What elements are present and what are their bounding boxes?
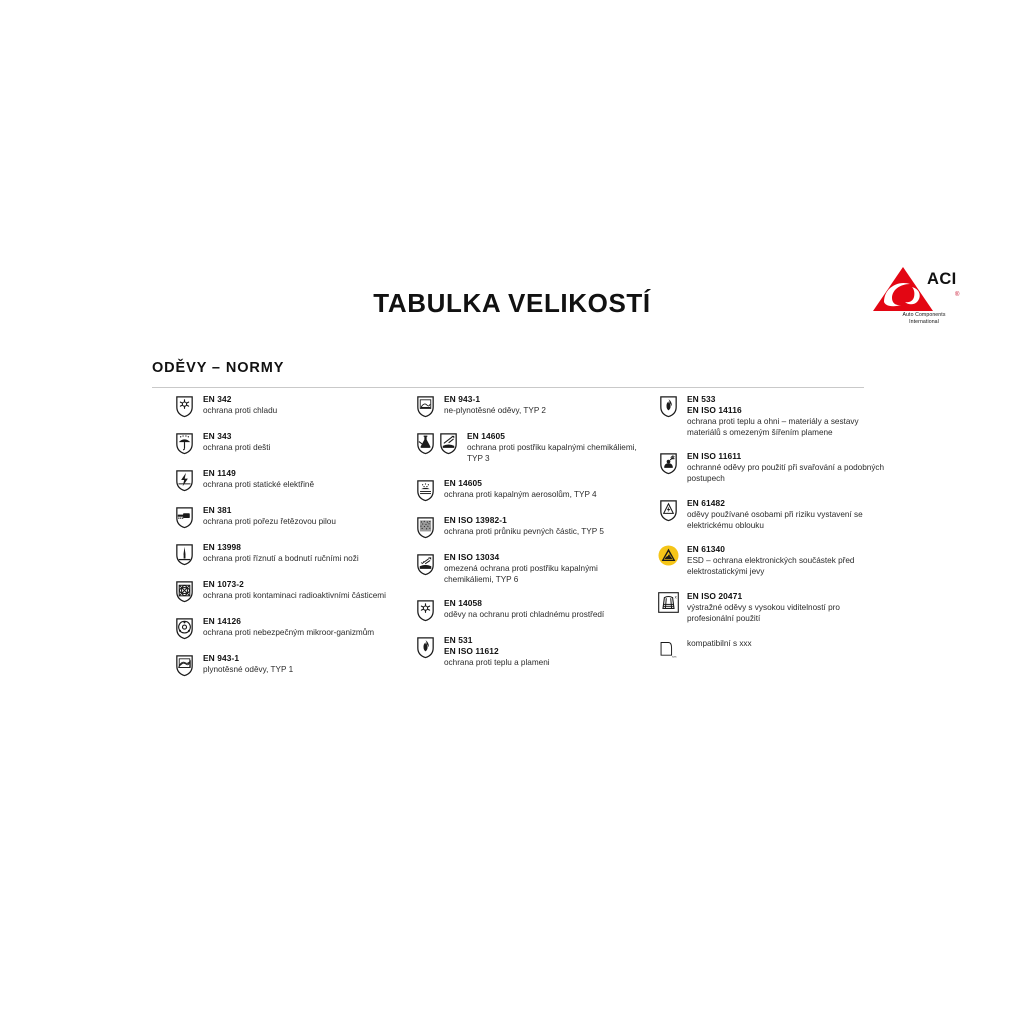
- shield-gastight-suit-icon: [174, 654, 195, 677]
- standard-icon-group: [174, 431, 195, 455]
- standard-text: EN 1073-2ochrana proti kontaminaci radio…: [203, 579, 386, 601]
- standard-text: EN ISO 13034omezená ochrana proti postři…: [444, 552, 640, 586]
- standard-icon-group: [415, 635, 436, 659]
- shield-cool-environment-icon: [415, 599, 436, 622]
- standards-column-3: EN 533EN ISO 14116ochrana proti teplu a …: [658, 394, 888, 674]
- shield-static-electricity-icon: [174, 469, 195, 492]
- standard-code: EN 343: [203, 431, 270, 442]
- standard-text: EN 1149ochrana proti statické elektřině: [203, 468, 314, 490]
- standard-code: EN ISO 13982-1: [444, 515, 604, 526]
- standard-text: EN 14605ochrana proti kapalným aerosolům…: [444, 478, 597, 500]
- standard-item: EN 13998ochrana proti říznutí a bodnutí …: [174, 542, 389, 566]
- standard-code: EN 1073-2: [203, 579, 386, 590]
- standard-code: EN ISO 11612: [444, 646, 550, 657]
- shield-cold-snowflake-icon: [174, 395, 195, 418]
- high-visibility-vest-icon: x: [658, 592, 679, 613]
- standard-text: EN ISO 13982-1ochrana proti průniku pevn…: [444, 515, 604, 537]
- standard-text: EN 531EN ISO 11612ochrana proti teplu a …: [444, 635, 550, 668]
- standard-text: EN 533EN ISO 14116ochrana proti teplu a …: [687, 394, 888, 438]
- standard-item: EN ISO 13982-1ochrana proti průniku pevn…: [415, 515, 640, 539]
- standard-description: omezená ochrana proti postřiku kapalnými…: [444, 563, 640, 585]
- standard-code: EN 61340: [687, 544, 888, 555]
- shield-welding-icon: [658, 452, 679, 475]
- shield-solid-particles-icon: [415, 516, 436, 539]
- standard-icon-group: [415, 515, 436, 539]
- standard-description: ochrana proti statické elektřině: [203, 479, 314, 490]
- standard-item: xxxkompatibilní s xxx: [658, 637, 888, 661]
- standard-icon-group: [174, 579, 195, 603]
- standard-code: EN 943-1: [203, 653, 293, 664]
- section-divider: [152, 387, 864, 388]
- shield-flame-heat-icon: [415, 636, 436, 659]
- shield-electric-arc-icon: [658, 499, 679, 522]
- standard-text: EN 61482oděvy používané osobami při rizi…: [687, 498, 888, 532]
- standard-icon-group: [174, 616, 195, 640]
- standard-text: EN 343ochrana proti dešti: [203, 431, 270, 453]
- standard-item: EN 1149ochrana proti statické elektřině: [174, 468, 389, 492]
- standard-description: ochrana proti kapalným aerosolům, TYP 4: [444, 489, 597, 500]
- standard-icon-group: [658, 451, 679, 475]
- standard-icon-group: [174, 653, 195, 677]
- standard-description: ochrana proti říznutí a bodnutí ručními …: [203, 553, 359, 564]
- standard-description: ochrana proti nebezpečným mikroor-ganizm…: [203, 627, 374, 638]
- standard-text: EN 61340ESD – ochrana elektronických sou…: [687, 544, 888, 578]
- standards-column-2: EN 943-1ne-plynotěsné oděvy, TYP 2EN 146…: [415, 394, 640, 681]
- standard-item: EN 943-1ne-plynotěsné oděvy, TYP 2: [415, 394, 640, 418]
- shield-liquid-jet-icon: [438, 432, 459, 455]
- standard-code: EN 1149: [203, 468, 314, 479]
- standard-code: EN 14126: [203, 616, 374, 627]
- shield-biohazard-icon: [174, 617, 195, 640]
- standard-item: EN 14058oděvy na ochranu proti chladnému…: [415, 598, 640, 622]
- standard-icon-group: [415, 552, 436, 576]
- standard-description: ochrana proti průniku pevných částic, TY…: [444, 526, 604, 537]
- standard-code: EN ISO 14116: [687, 405, 888, 416]
- standard-item: EN 61482oděvy používané osobami při rizi…: [658, 498, 888, 532]
- standard-item: EN 342ochrana proti chladu: [174, 394, 389, 418]
- standard-icon-group: xxx: [658, 637, 679, 661]
- standard-item: EN 14126ochrana proti nebezpečným mikroo…: [174, 616, 389, 640]
- standard-description: ESD – ochrana elektronických součástek p…: [687, 555, 888, 577]
- logo-tagline-line-2: International: [909, 319, 939, 325]
- standard-description: ochrana proti teplu a plameni: [444, 657, 550, 668]
- standard-icon-group: [658, 544, 679, 566]
- standard-code: EN 14605: [467, 431, 640, 442]
- standard-description: oděvy na ochranu proti chladnému prostře…: [444, 609, 604, 620]
- standard-text: kompatibilní s xxx: [687, 637, 752, 649]
- svg-text:xxx: xxx: [672, 654, 677, 658]
- standard-code: EN 13998: [203, 542, 359, 553]
- standard-icon-group: [415, 394, 436, 418]
- standard-item: EN ISO 11611ochranné oděvy pro použití p…: [658, 451, 888, 485]
- standard-text: EN 14126ochrana proti nebezpečným mikroo…: [203, 616, 374, 638]
- standard-text: EN 381ochrana proti pořezu řetězovou pil…: [203, 505, 336, 527]
- standard-text: EN 342ochrana proti chladu: [203, 394, 277, 416]
- standard-description: oděvy používané osobami při riziku vysta…: [687, 509, 888, 531]
- standard-item: EN 14605ochrana proti kapalným aerosolům…: [415, 478, 640, 502]
- standard-code: EN 943-1: [444, 394, 546, 405]
- standard-item: EN 381ochrana proti pořezu řetězovou pil…: [174, 505, 389, 529]
- standard-code: EN ISO 20471: [687, 591, 888, 602]
- standard-text: EN 13998ochrana proti říznutí a bodnutí …: [203, 542, 359, 564]
- standard-icon-group: [415, 478, 436, 502]
- standard-icon-group: [658, 394, 679, 418]
- standard-description: ochrana proti dešti: [203, 442, 270, 453]
- shield-chainsaw-icon: [174, 506, 195, 529]
- esd-warning-triangle-icon: [658, 545, 679, 566]
- standard-item: EN 531EN ISO 11612ochrana proti teplu a …: [415, 635, 640, 668]
- standard-text: EN 14058oděvy na ochranu proti chladnému…: [444, 598, 604, 620]
- shield-limited-flame-spread-icon: [658, 395, 679, 418]
- standard-icon-group: [415, 431, 459, 455]
- standard-description: ne-plynotěsné oděvy, TYP 2: [444, 405, 546, 416]
- standard-item: EN 943-1plynotěsné oděvy, TYP 1: [174, 653, 389, 677]
- standard-code: EN ISO 11611: [687, 451, 888, 462]
- section-header: ODĚVY – NORMY: [152, 360, 284, 376]
- standard-icon-group: [415, 598, 436, 622]
- standard-text: EN 943-1ne-plynotěsné oděvy, TYP 2: [444, 394, 546, 416]
- standard-code: EN 531: [444, 635, 550, 646]
- standard-item: xEN ISO 20471výstražné oděvy s vysokou v…: [658, 591, 888, 625]
- standard-code: EN 14058: [444, 598, 604, 609]
- standard-code: EN 533: [687, 394, 888, 405]
- logo-wordmark: ACI: [927, 270, 957, 289]
- standard-item: EN 14605ochrana proti postřiku kapalnými…: [415, 431, 640, 465]
- standard-description: výstražné oděvy s vysokou viditelností p…: [687, 602, 888, 624]
- shield-rain-umbrella-icon: [174, 432, 195, 455]
- shield-limited-spray-icon: [415, 553, 436, 576]
- standard-icon-group: [174, 468, 195, 492]
- standard-text: EN 14605ochrana proti postřiku kapalnými…: [467, 431, 640, 465]
- standard-icon-group: x: [658, 591, 679, 613]
- standard-item: EN 61340ESD – ochrana elektronických sou…: [658, 544, 888, 578]
- standard-code: EN 61482: [687, 498, 888, 509]
- shield-radioactive-particles-icon: [174, 580, 195, 603]
- standard-item: EN ISO 13034omezená ochrana proti postři…: [415, 552, 640, 586]
- standard-item: EN 343ochrana proti dešti: [174, 431, 389, 455]
- standard-description: ochrana proti chladu: [203, 405, 277, 416]
- standard-text: EN ISO 20471výstražné oděvy s vysokou vi…: [687, 591, 888, 625]
- standard-icon-group: [174, 505, 195, 529]
- compatibility-tag-icon: xxx: [658, 638, 679, 661]
- standard-description: ochrana proti teplu a ohni – materiály a…: [687, 416, 888, 438]
- shield-liquid-aerosol-icon: [415, 479, 436, 502]
- standard-code: EN ISO 13034: [444, 552, 640, 563]
- standard-description: ochrana proti kontaminaci radioaktivními…: [203, 590, 386, 601]
- shield-chemical-flask-icon: [415, 432, 436, 455]
- standard-description: ochranné oděvy pro použití při svařování…: [687, 462, 888, 484]
- standard-description: ochrana proti postřiku kapalnými chemiká…: [467, 442, 640, 464]
- standard-icon-group: [174, 394, 195, 418]
- standard-text: EN ISO 11611ochranné oděvy pro použití p…: [687, 451, 888, 485]
- standard-icon-group: [174, 542, 195, 566]
- standard-icon-group: [658, 498, 679, 522]
- page-title: TABULKA VELIKOSTÍ: [0, 288, 1024, 319]
- standards-column-1: EN 342ochrana proti chladuEN 343ochrana …: [174, 394, 389, 690]
- shield-knife-cut-icon: [174, 543, 195, 566]
- standard-item: EN 533EN ISO 14116ochrana proti teplu a …: [658, 394, 888, 438]
- standard-description: plynotěsné oděvy, TYP 1: [203, 664, 293, 675]
- standard-code: EN 381: [203, 505, 336, 516]
- standard-text: EN 943-1plynotěsné oděvy, TYP 1: [203, 653, 293, 675]
- shield-non-gastight-suit-icon: [415, 395, 436, 418]
- standard-description: kompatibilní s xxx: [687, 638, 752, 649]
- standard-code: EN 14605: [444, 478, 597, 489]
- standard-item: EN 1073-2ochrana proti kontaminaci radio…: [174, 579, 389, 603]
- standard-description: ochrana proti pořezu řetězovou pilou: [203, 516, 336, 527]
- standard-code: EN 342: [203, 394, 277, 405]
